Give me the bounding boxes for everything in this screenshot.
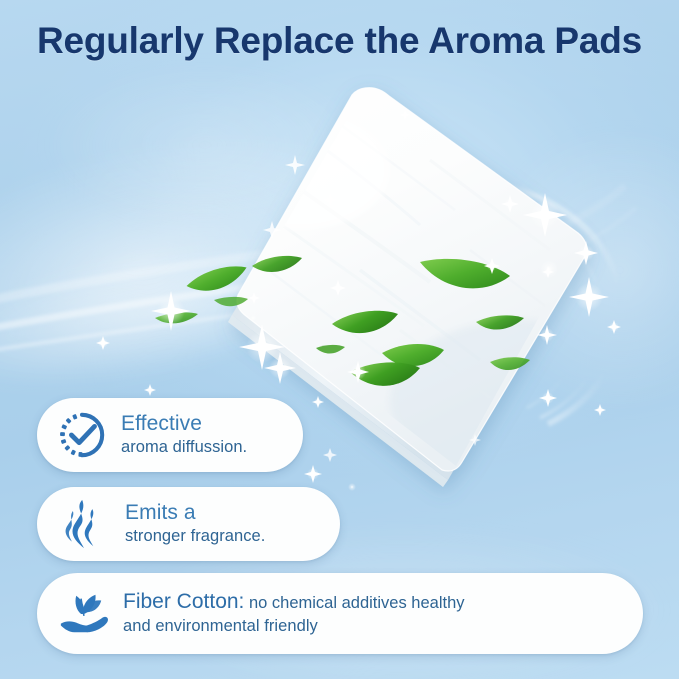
product-infographic: Regularly Replace the Aroma Pads: [0, 0, 679, 679]
feature-sub: aroma diffussion.: [121, 437, 247, 458]
vapor-waves-icon: [53, 498, 115, 550]
feature-sub: stronger fragrance.: [125, 526, 265, 547]
hand-sprout-icon: [51, 589, 113, 639]
feature-pill-effective[interactable]: Effective aroma diffussion.: [37, 398, 303, 472]
feature-lead: Emits a: [125, 501, 265, 526]
feature-lead: Effective: [121, 412, 247, 437]
feature-pill-fragrance[interactable]: Emits a stronger fragrance.: [37, 487, 340, 561]
feature-lead: Fiber Cotton:: [123, 590, 244, 613]
feature-text-fiber-cotton: Fiber Cotton: no chemical additives heal…: [123, 589, 465, 637]
feature-sub: no chemical additives healthy: [244, 594, 464, 612]
page-title: Regularly Replace the Aroma Pads: [0, 22, 679, 61]
feature-text-fragrance: Emits a stronger fragrance.: [125, 501, 265, 547]
feature-line-1: Fiber Cotton: no chemical additives heal…: [123, 589, 465, 616]
clock-check-icon: [51, 410, 113, 460]
feature-line-2: and environmental friendly: [123, 616, 465, 637]
feature-pill-fiber-cotton[interactable]: Fiber Cotton: no chemical additives heal…: [37, 573, 643, 654]
feature-text-effective: Effective aroma diffussion.: [121, 412, 247, 458]
